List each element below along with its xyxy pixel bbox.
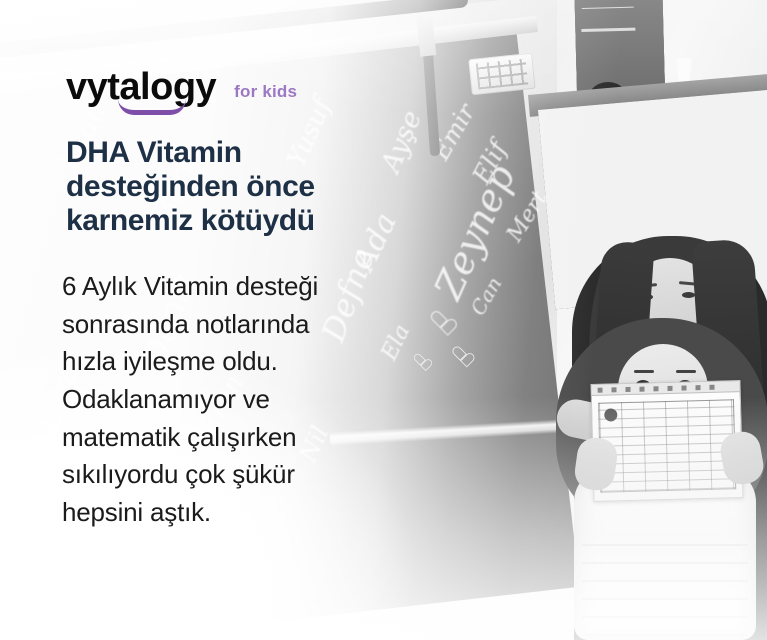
logo-tagline: for kids [234,83,297,106]
brand-logo[interactable]: vytalogy for kids [66,68,297,106]
headline-line: desteğinden önce [66,170,466,204]
headline: DHA Vitamin desteğinden önce karnemiz kö… [66,136,466,239]
ad-creative: Ayşe Emir Elif Zeynep Ada Mert Defne Can… [0,0,767,640]
headline-line: DHA Vitamin [66,136,466,170]
body-line: matematik çalışırken [62,419,430,457]
logo-smile-icon [118,99,186,115]
body-line: hepsini aştık. [62,494,430,532]
headline-line: karnemiz kötüydü [66,204,466,238]
ad-content: vytalogy for kids DHA Vitamin desteğinde… [0,0,767,640]
logo-wordmark: vytalogy [66,68,216,106]
body-line: sonrasında notlarında [62,306,430,344]
body-line: Odaklanamıyor ve [62,381,430,419]
testimonial-body: 6 Aylık Vitamin desteği sonrasında notla… [62,268,430,532]
body-line: 6 Aylık Vitamin desteği [62,268,430,306]
body-line: sıkılıyordu çok şükür [62,456,430,494]
body-line: hızla iyileşme oldu. [62,343,430,381]
